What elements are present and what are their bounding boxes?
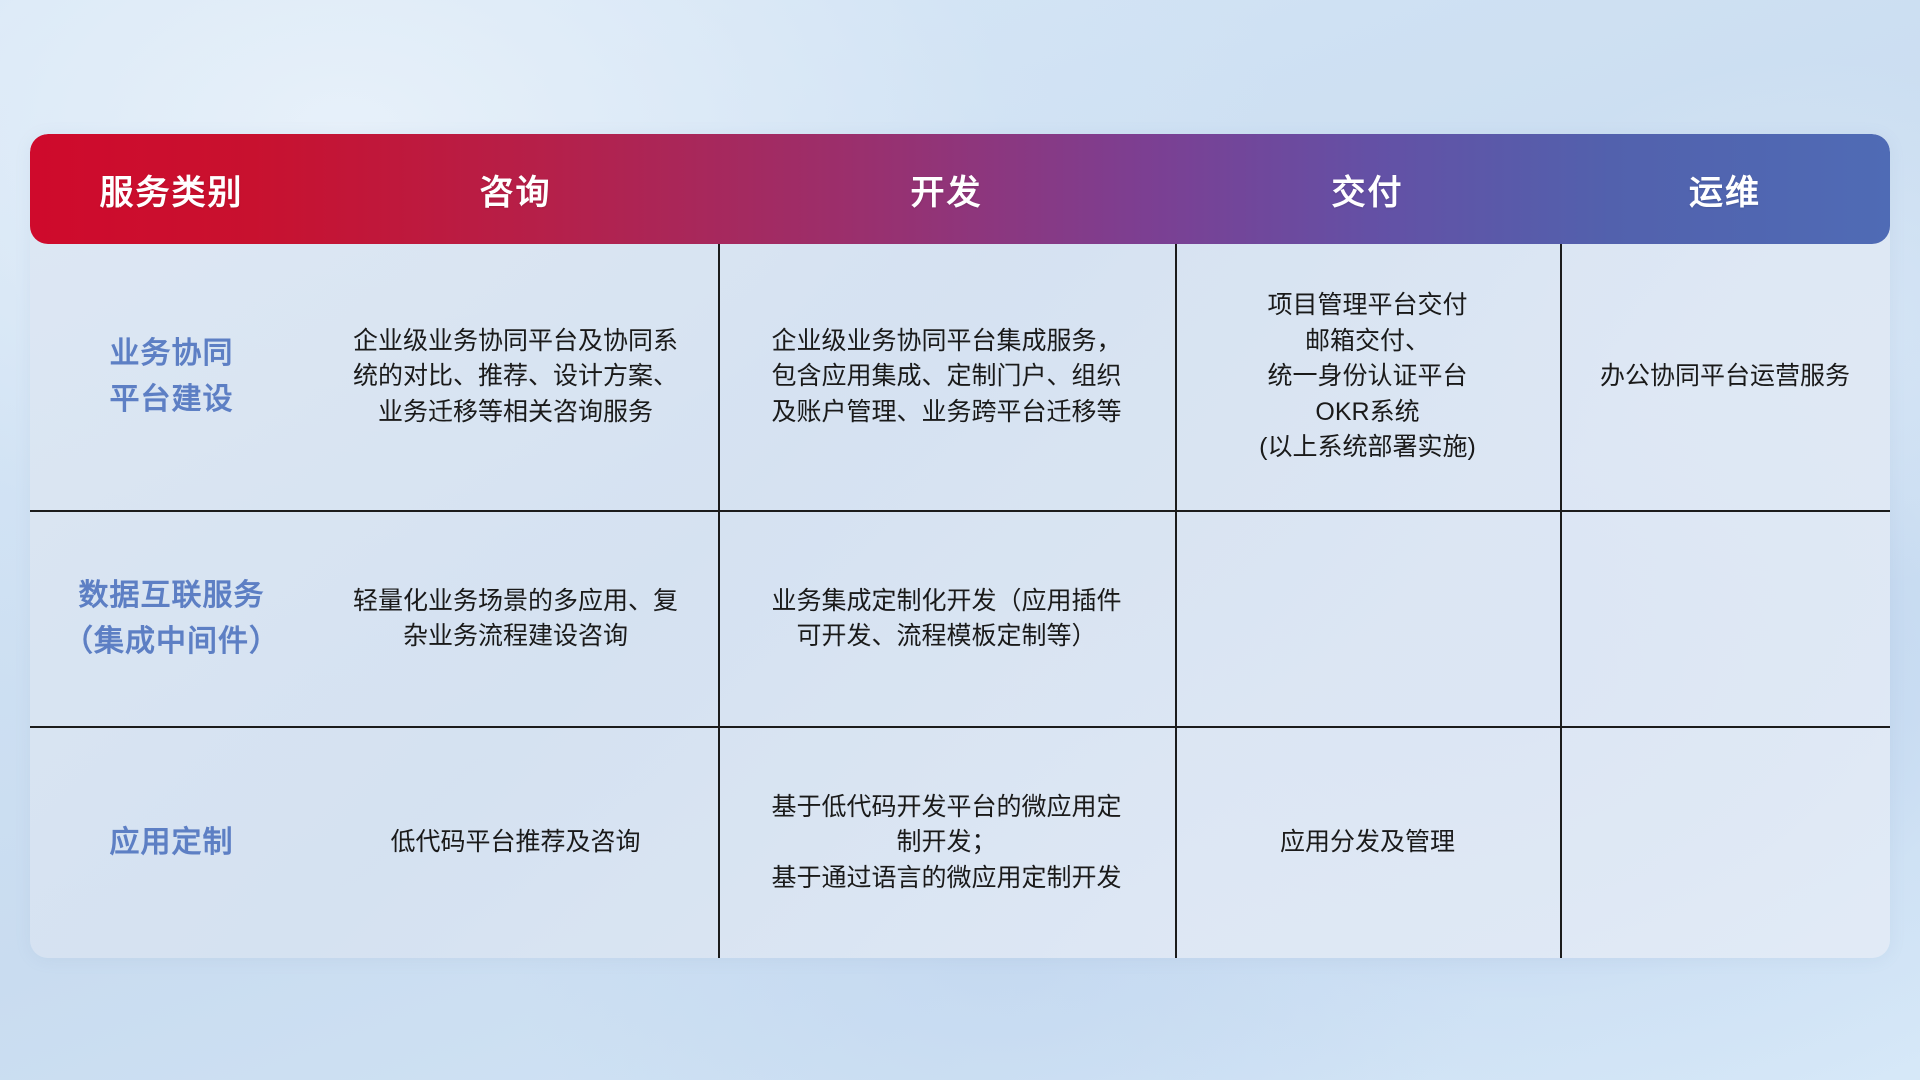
cell-delivery: 应用分发及管理 [1175,728,1560,958]
table-body: 业务协同 平台建设 企业级业务协同平台及协同系 统的对比、推荐、设计方案、 业务… [30,244,1890,958]
column-header-category: 服务类别 [30,134,313,244]
cell-delivery: 项目管理平台交付 邮箱交付、 统一身份认证平台 OKR系统 (以上系统部署实施) [1175,244,1560,510]
cell-operations [1560,728,1890,958]
cell-category: 数据互联服务 （集成中间件） [30,512,313,726]
table-header-row: 服务类别 咨询 开发 交付 运维 [30,134,1890,244]
cell-delivery [1175,512,1560,726]
service-matrix-container: 服务类别 咨询 开发 交付 运维 业务协同 平台建设 企业级业务协同平台及协同系… [30,134,1890,958]
cell-operations: 办公协同平台运营服务 [1560,244,1890,510]
column-header-consulting: 咨询 [313,134,718,244]
cell-consulting: 低代码平台推荐及咨询 [313,728,718,958]
cell-development: 基于低代码开发平台的微应用定 制开发； 基于通过语言的微应用定制开发 [718,728,1175,958]
column-header-development: 开发 [718,134,1175,244]
column-header-operations: 运维 [1560,134,1890,244]
cell-development: 企业级业务协同平台集成服务， 包含应用集成、定制门户、组织 及账户管理、业务跨平… [718,244,1175,510]
cell-category: 应用定制 [30,728,313,958]
cell-category: 业务协同 平台建设 [30,244,313,510]
service-matrix-table: 服务类别 咨询 开发 交付 运维 业务协同 平台建设 企业级业务协同平台及协同系… [30,134,1890,958]
cell-consulting: 轻量化业务场景的多应用、复 杂业务流程建设咨询 [313,512,718,726]
table-row: 数据互联服务 （集成中间件） 轻量化业务场景的多应用、复 杂业务流程建设咨询 业… [30,512,1890,728]
table-row: 业务协同 平台建设 企业级业务协同平台及协同系 统的对比、推荐、设计方案、 业务… [30,244,1890,512]
cell-development: 业务集成定制化开发（应用插件 可开发、流程模板定制等） [718,512,1175,726]
cell-operations [1560,512,1890,726]
column-header-delivery: 交付 [1175,134,1560,244]
table-row: 应用定制 低代码平台推荐及咨询 基于低代码开发平台的微应用定 制开发； 基于通过… [30,728,1890,958]
cell-consulting: 企业级业务协同平台及协同系 统的对比、推荐、设计方案、 业务迁移等相关咨询服务 [313,244,718,510]
